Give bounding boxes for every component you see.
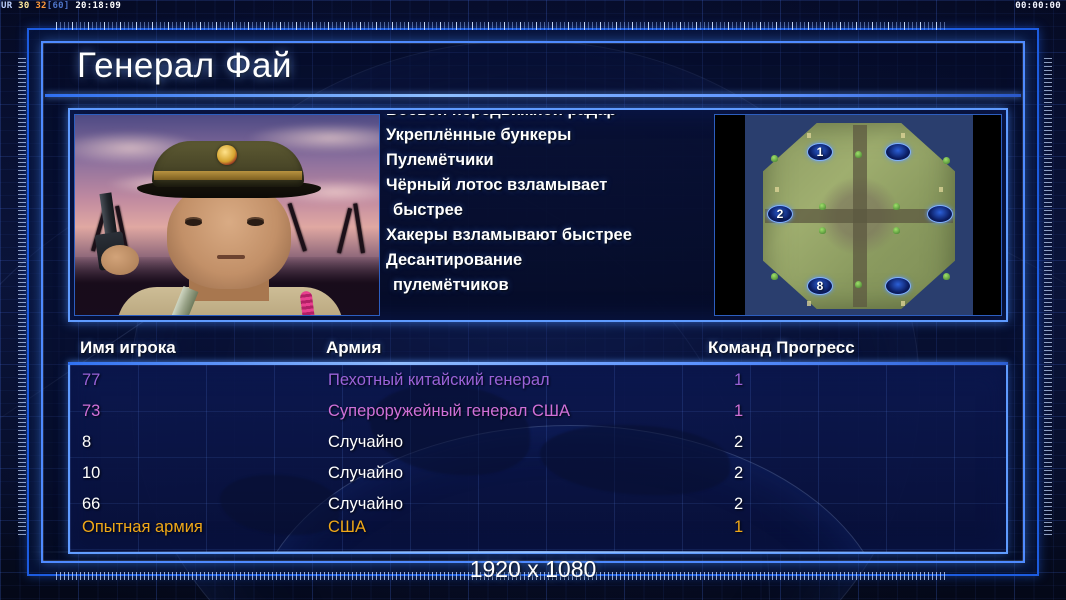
ability-line-7: пулемётчиков <box>386 273 768 298</box>
cell-player-name: 8 <box>82 433 91 452</box>
status-bar-left: UR 30 32[60] 20:18:09 <box>1 0 121 13</box>
title-zone: Генерал Фай <box>45 44 1021 96</box>
map-prop-1 <box>807 133 811 138</box>
ability-line-0: Боевой передвижной радар <box>386 114 768 123</box>
map-start-position-empty-3[interactable] <box>885 277 911 295</box>
resolution-label: 1920 x 1080 <box>0 556 1066 583</box>
table-row[interactable]: 66 Случайно 2 <box>70 495 1008 518</box>
cell-progress <box>786 499 978 511</box>
ruler-left <box>18 58 26 538</box>
map-start-position-empty-2[interactable] <box>927 205 953 223</box>
map-tree-3 <box>771 273 778 280</box>
footer-divider <box>27 551 1039 553</box>
ability-line-5: Хакеры взламывают быстрее <box>386 223 768 248</box>
cell-army: Случайно <box>328 464 403 483</box>
portrait-hand <box>101 245 139 275</box>
ability-line-6: Десантирование <box>386 248 768 273</box>
ability-line-1: Укреплённые бункеры <box>386 123 768 148</box>
map-start-position-2[interactable]: 2 <box>767 205 793 223</box>
map-resource-6 <box>893 227 900 234</box>
cell-army: Супероружейный генерал США <box>328 402 570 421</box>
map-prop-6 <box>939 187 943 192</box>
cell-army: Случайно <box>328 433 403 452</box>
map-prop-3 <box>807 301 811 306</box>
game-options-screen: UR 30 32[60] 20:18:09 00:00:00 Генерал Ф… <box>0 0 1066 600</box>
page-title: Генерал Фай <box>77 46 292 86</box>
ruler-right <box>1044 58 1052 538</box>
status-value-1: 30 <box>18 1 29 11</box>
map-tree-2 <box>943 157 950 164</box>
portrait-cap-emblem <box>217 145 237 165</box>
cell-team: 1 <box>734 402 743 421</box>
map-tree-4 <box>943 273 950 280</box>
player-table: Имя игрока Армия Команд Прогресс 77 Пехо… <box>68 338 1008 554</box>
cell-army: Случайно <box>328 495 403 514</box>
title-underline <box>45 94 1021 97</box>
table-row[interactable]: 8 Случайно 2 <box>70 433 1008 456</box>
cell-player-name: 10 <box>82 464 100 483</box>
map-tree-1 <box>771 155 778 162</box>
cell-progress <box>786 406 978 418</box>
table-row[interactable]: 77 Пехотный китайский генерал 1 <box>70 371 1008 394</box>
portrait-eye-right <box>247 219 264 226</box>
map-resource-3 <box>819 203 826 210</box>
status-time: 20:18:09 <box>75 1 121 11</box>
cell-progress <box>786 468 978 480</box>
portrait-mouth <box>217 255 245 259</box>
cell-progress <box>786 375 978 387</box>
map-resource-4 <box>893 203 900 210</box>
table-row[interactable]: 10 Случайно 2 <box>70 464 1008 487</box>
ability-line-2: Пулемётчики <box>386 148 768 173</box>
map-start-position-empty-1[interactable] <box>885 143 911 161</box>
table-row[interactable]: Опытная армия США 1 <box>70 518 1008 541</box>
portrait-eye-left <box>185 219 202 226</box>
cell-player-name: 73 <box>82 402 100 421</box>
status-bar: UR 30 32[60] 20:18:09 00:00:00 <box>0 0 1066 13</box>
map-prop-2 <box>901 133 905 138</box>
cell-team: 2 <box>734 495 743 514</box>
table-body: 77 Пехотный китайский генерал 1 73 Супер… <box>68 365 1008 554</box>
status-value-2: 32 <box>35 1 46 11</box>
map-start-position-8[interactable]: 8 <box>807 277 833 295</box>
cell-army: США <box>328 518 366 537</box>
map-preview[interactable]: 1 2 8 <box>714 114 1002 316</box>
status-bracket: [60] <box>47 1 70 11</box>
map-road-horizontal <box>765 209 953 223</box>
cell-player-name: 77 <box>82 371 100 390</box>
column-header-team-progress: Команд Прогресс <box>708 338 855 358</box>
map-start-position-1[interactable]: 1 <box>807 143 833 161</box>
general-portrait <box>74 114 380 316</box>
map-prop-5 <box>775 187 779 192</box>
cell-team: 2 <box>734 433 743 452</box>
cell-player-name: Опытная армия <box>82 518 203 537</box>
cell-player-name: 66 <box>82 495 100 514</box>
ability-line-3: Чёрный лотос взламывает <box>386 173 768 198</box>
column-header-army: Армия <box>326 338 381 358</box>
map-resource-2 <box>855 281 862 288</box>
map-resource-1 <box>855 151 862 158</box>
portrait-cap-band <box>154 171 302 180</box>
cell-team: 2 <box>734 464 743 483</box>
table-header-row: Имя игрока Армия Команд Прогресс <box>68 338 1008 362</box>
table-row[interactable]: 73 Супероружейный генерал США 1 <box>70 402 1008 425</box>
ability-line-4: быстрее <box>386 198 768 223</box>
cell-team: 1 <box>734 371 743 390</box>
cell-team: 1 <box>734 518 743 537</box>
map-resource-5 <box>819 227 826 234</box>
cell-army: Пехотный китайский генерал <box>328 371 550 390</box>
column-header-player-name: Имя игрока <box>80 338 176 358</box>
status-label: UR <box>1 1 12 11</box>
cell-progress <box>786 437 978 449</box>
portrait-medal <box>151 315 167 316</box>
status-clock: 00:00:00 <box>1015 0 1061 13</box>
general-info-panel: Боевой передвижной радар Укреплённые бун… <box>68 108 1008 322</box>
map-prop-4 <box>901 301 905 306</box>
